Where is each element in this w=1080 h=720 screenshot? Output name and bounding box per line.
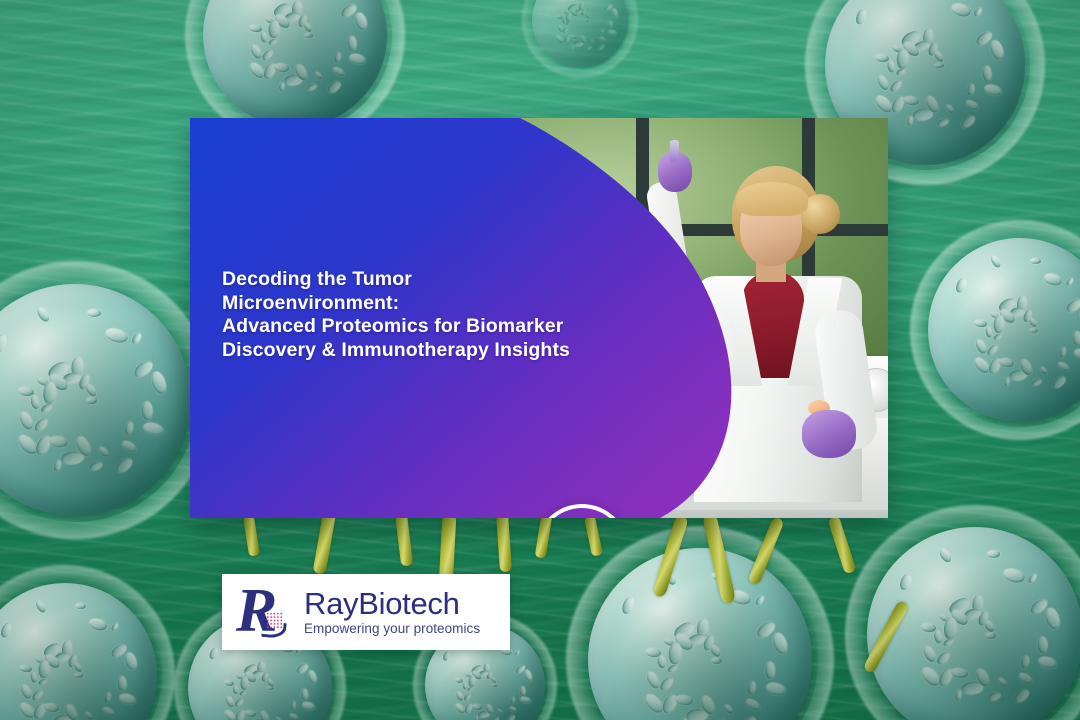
raybiotech-logo[interactable]: R RayBiotech Empowering your proteomics: [222, 574, 510, 650]
logo-tagline: Empowering your proteomics: [304, 621, 480, 636]
logo-company-name: RayBiotech: [304, 588, 480, 620]
video-title: Decoding the Tumor Microenvironment: Adv…: [222, 268, 642, 362]
logo-text-block: RayBiotech Empowering your proteomics: [304, 588, 480, 636]
raybiotech-monogram: R: [236, 582, 298, 642]
microarray-dot-grid-icon: [266, 612, 283, 629]
video-thumbnail-card[interactable]: Decoding the Tumor Microenvironment: Adv…: [190, 118, 888, 518]
